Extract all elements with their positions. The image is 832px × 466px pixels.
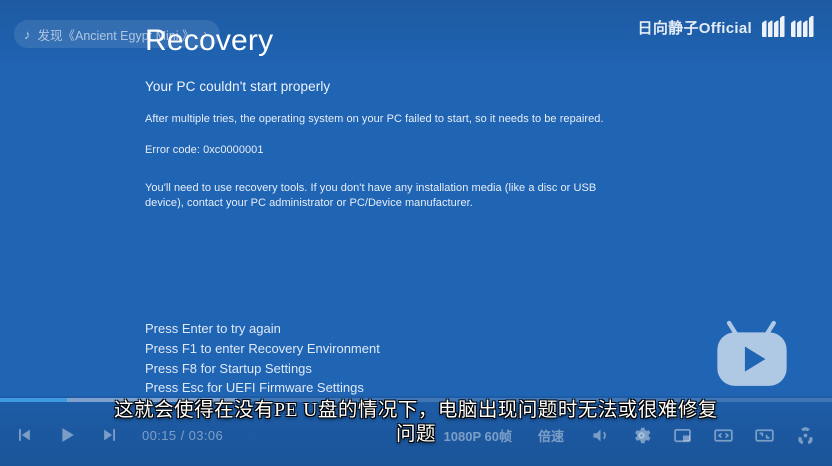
recovery-subheading: Your PC couldn't start properly bbox=[145, 79, 705, 94]
fullscreen-icon bbox=[754, 425, 775, 446]
volume-button[interactable] bbox=[590, 425, 611, 446]
widescreen-button[interactable] bbox=[713, 425, 734, 446]
time-separator: / bbox=[181, 428, 185, 443]
progress-played bbox=[0, 398, 67, 402]
widescreen-icon bbox=[713, 425, 734, 446]
key-option-enter: Press Enter to try again bbox=[145, 319, 380, 339]
recovery-paragraph-2: You'll need to use recovery tools. If yo… bbox=[145, 181, 627, 211]
recovery-error-code: Error code: 0xc0000001 bbox=[145, 143, 705, 158]
fullscreen-button[interactable] bbox=[754, 425, 775, 446]
bilibili-logo-icon bbox=[760, 16, 818, 38]
next-track-icon bbox=[100, 425, 120, 445]
key-option-f1: Press F1 to enter Recovery Environment bbox=[145, 339, 380, 359]
recovery-key-options: Press Enter to try again Press F1 to ent… bbox=[145, 319, 380, 398]
previous-track-icon bbox=[14, 425, 34, 445]
player-controls: 00:15 / 03:06 1080P 60帧 倍速 bbox=[0, 404, 832, 466]
gear-icon bbox=[631, 425, 652, 446]
recovery-message-block: Recovery Your PC couldn't start properly… bbox=[145, 24, 705, 211]
progress-bar[interactable] bbox=[0, 398, 832, 402]
quality-selector[interactable]: 1080P 60帧 bbox=[444, 426, 512, 445]
volume-icon bbox=[590, 425, 611, 446]
key-option-esc: Press Esc for UEFI Firmware Settings bbox=[145, 378, 380, 398]
key-option-f8: Press F8 for Startup Settings bbox=[145, 359, 380, 379]
previous-track-button[interactable] bbox=[14, 425, 34, 445]
current-time: 00:15 bbox=[142, 428, 177, 443]
picture-in-picture-icon bbox=[672, 425, 693, 446]
danmaku-button[interactable] bbox=[795, 425, 816, 446]
picture-in-picture-button[interactable] bbox=[672, 425, 693, 446]
next-track-button[interactable] bbox=[100, 425, 120, 445]
settings-button[interactable] bbox=[631, 425, 652, 446]
music-note-icon: ♪ bbox=[24, 28, 31, 41]
play-icon bbox=[56, 424, 78, 446]
duration: 03:06 bbox=[189, 428, 224, 443]
danmaku-icon bbox=[795, 425, 816, 446]
time-display: 00:15 / 03:06 bbox=[142, 428, 223, 443]
video-player-screen: ♪ 发现《Ancient Egypt Mini 》 › 日向静子Official… bbox=[0, 0, 832, 466]
recovery-paragraph-1: After multiple tries, the operating syst… bbox=[145, 112, 705, 127]
bilibili-tv-watermark-icon bbox=[712, 315, 792, 389]
playback-speed-selector[interactable]: 倍速 bbox=[538, 426, 564, 445]
page-title: Recovery bbox=[145, 24, 705, 59]
play-button[interactable] bbox=[56, 424, 78, 446]
